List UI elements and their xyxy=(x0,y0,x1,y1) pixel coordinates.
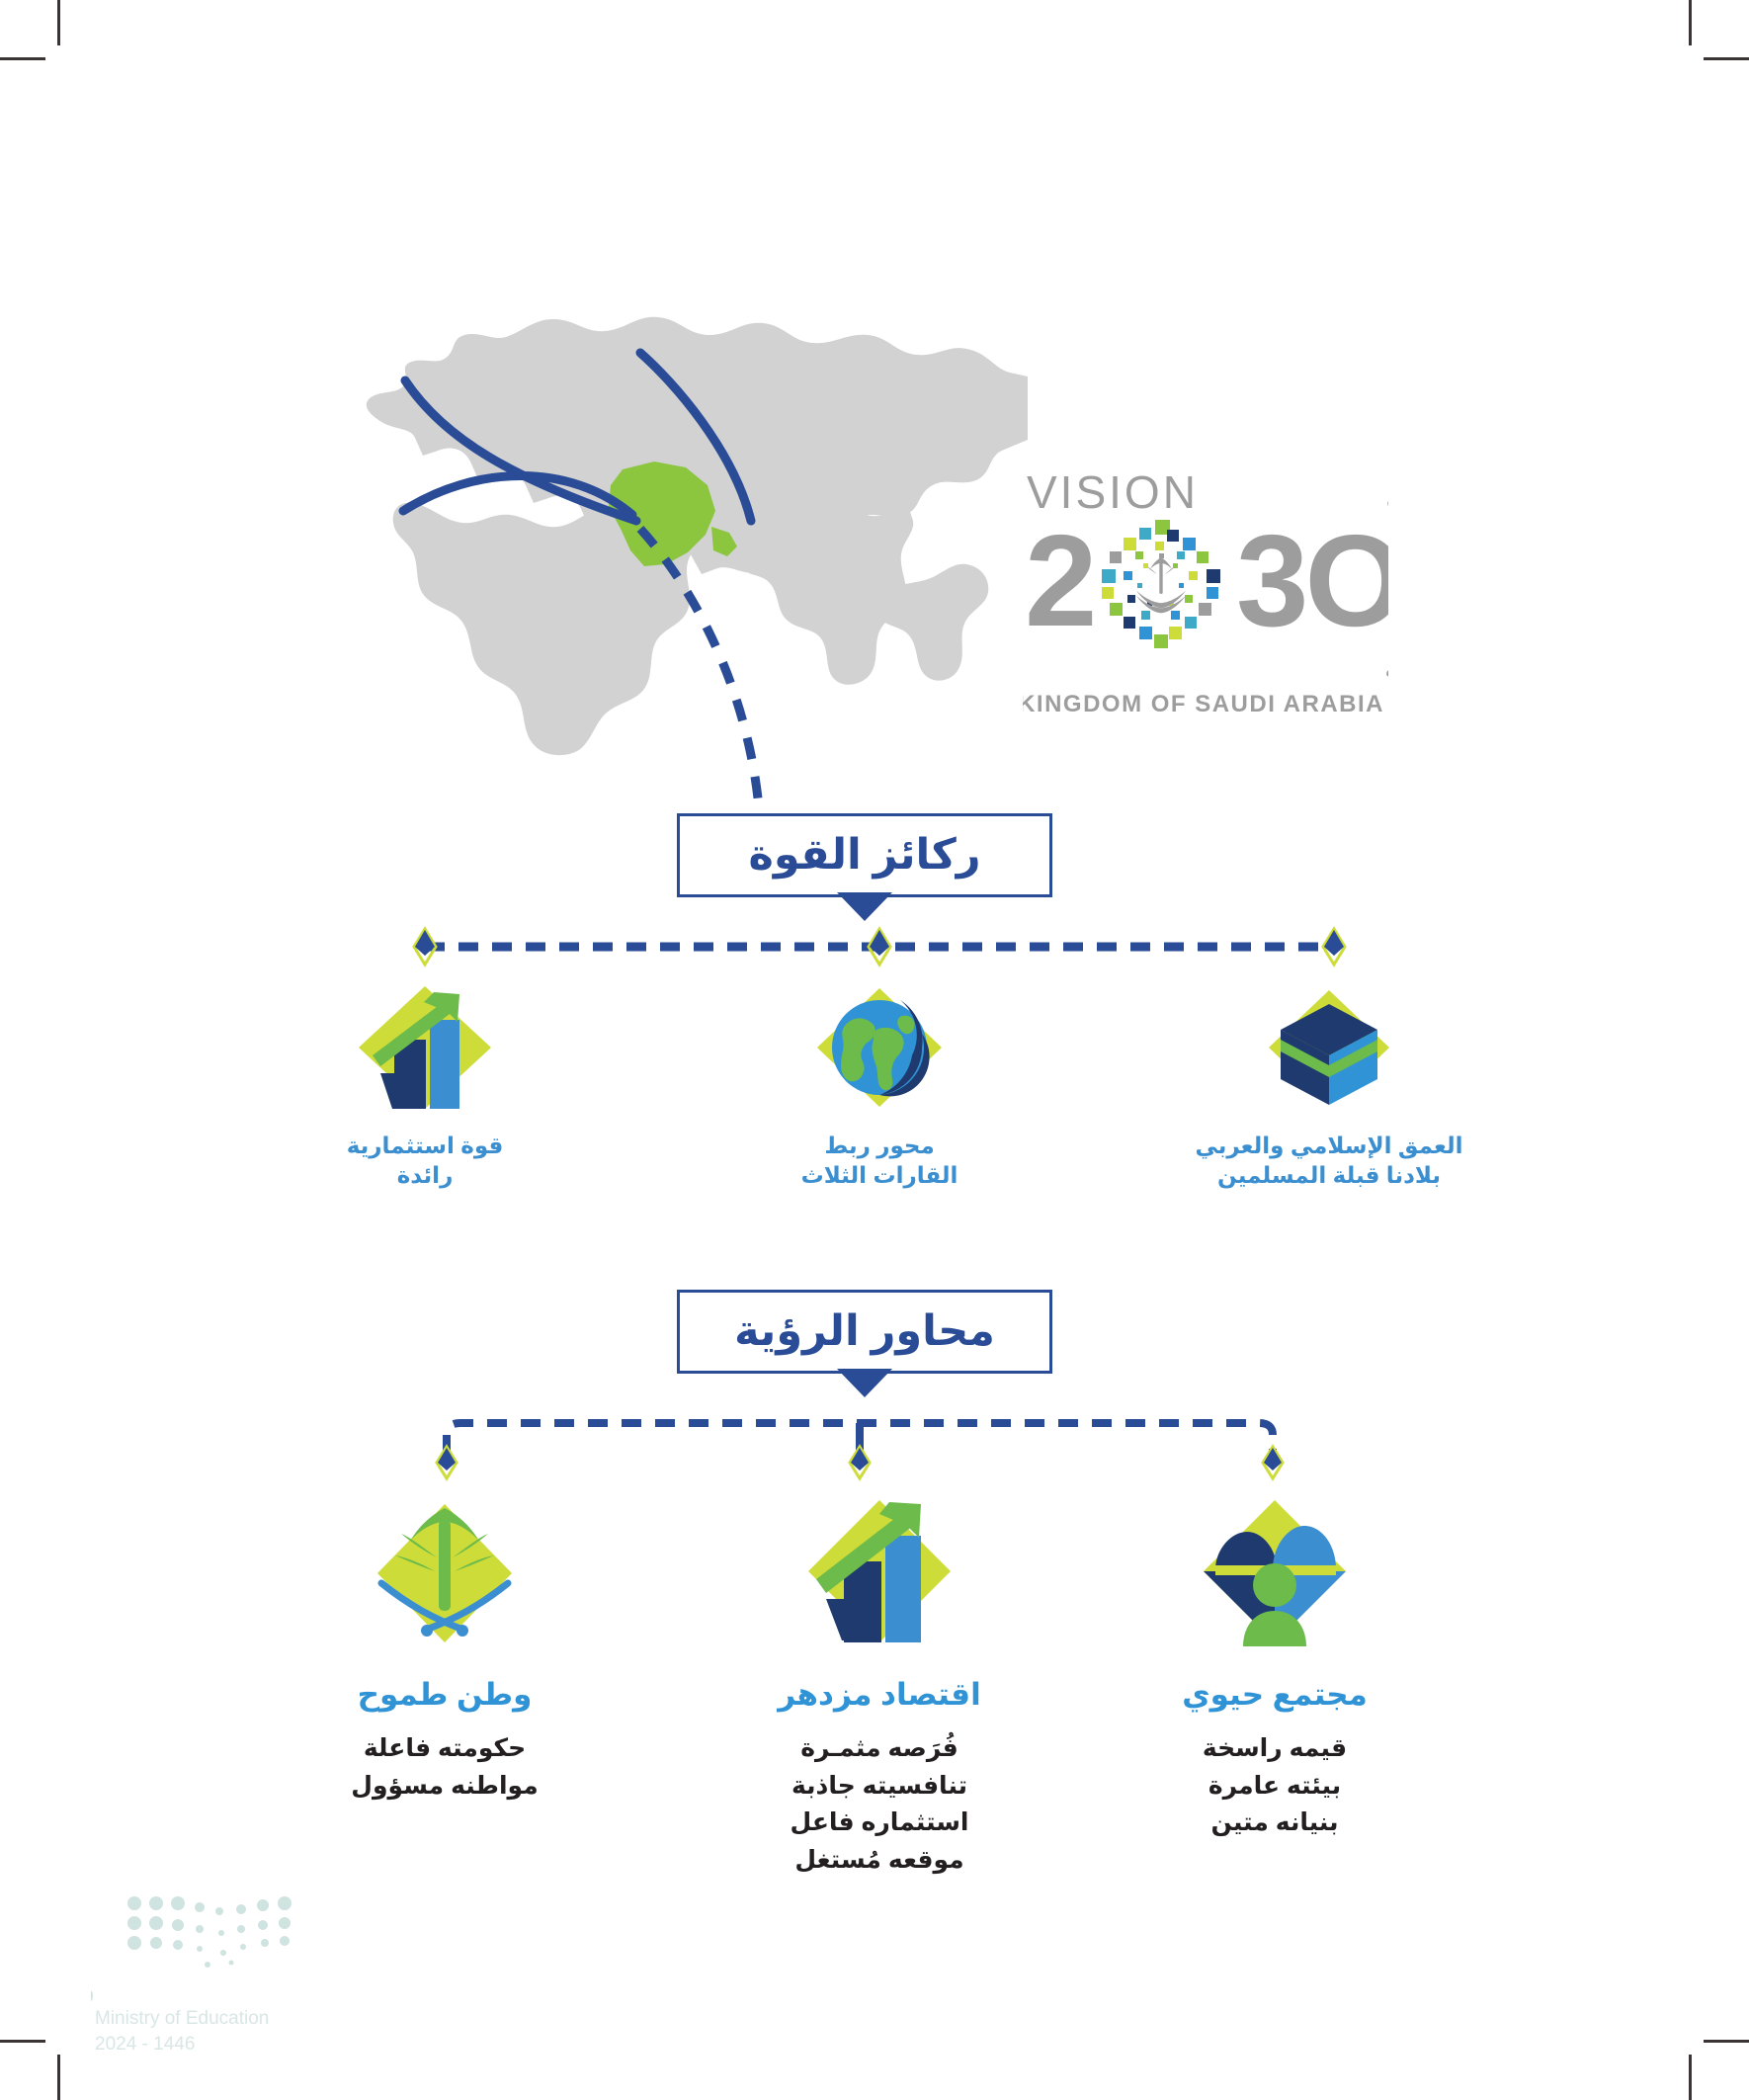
pillar-label-islamic-depth: العمق الإسلامي والعربي بلادنا قبلة المسل… xyxy=(1141,1131,1517,1191)
themes-header-box: محاور الرؤية xyxy=(677,1290,1052,1374)
logo-mosaic-rosette xyxy=(1102,520,1220,648)
ministry-of-education-logo: وزارة التـعـلـيم Ministry of Education 2… xyxy=(91,1888,328,2060)
themes-header-label: محاور الرؤية xyxy=(734,1310,995,1353)
moe-name-en: Ministry of Education xyxy=(95,2008,269,2029)
crop-mark-bottom-left-horizontal xyxy=(0,2040,45,2043)
crop-mark-top-right-horizontal xyxy=(1704,57,1749,60)
crop-mark-top-right-vertical xyxy=(1689,0,1692,45)
crop-mark-bottom-right-horizontal xyxy=(1704,2040,1749,2043)
pillar-item-islamic-depth: العمق الإسلامي والعربي بلادنا قبلة المسل… xyxy=(1141,978,1517,1191)
world-map xyxy=(296,292,1028,786)
pillars-connector xyxy=(395,927,1364,972)
logo-digit-2: 2 xyxy=(1025,508,1097,653)
themes-connector xyxy=(415,1407,1304,1482)
theme-item-vibrant-society: مجتمع حيوي قيمه راسخة بيئته عامرة بنيانه… xyxy=(1097,1482,1453,1842)
pillar-item-continents: محور ربط القارات الثلاث xyxy=(702,978,1057,1191)
page-root: VISION رؤيــــة 2 3O xyxy=(0,0,1749,2100)
crop-mark-bottom-left-vertical xyxy=(57,2055,60,2100)
theme-points-thriving-economy: فُرَصه مثمـرة تنافسيته جاذبة استثماره فا… xyxy=(702,1730,1057,1879)
moe-dots-mark xyxy=(127,1896,291,1968)
pillar-label-investment: قوة استثمارية رائدة xyxy=(247,1131,603,1191)
kaaba-icon xyxy=(1255,978,1403,1117)
theme-title-ambitious-nation: وطن طموح xyxy=(267,1676,623,1713)
vision-2030-logo: VISION رؤيــــة 2 3O xyxy=(1023,472,1388,729)
theme-title-thriving-economy: اقتصاد مزدهر xyxy=(702,1676,1057,1713)
pillars-header-arrow xyxy=(837,892,892,921)
pillar-label-continents: محور ربط القارات الثلاث xyxy=(702,1131,1057,1191)
crop-mark-top-left-vertical xyxy=(57,0,60,45)
crop-mark-bottom-right-vertical xyxy=(1689,2055,1692,2100)
pillars-header-label: ركائز القوة xyxy=(749,834,981,877)
logo-kingdom-en: KINGDOM OF SAUDI ARABIA xyxy=(1023,691,1384,717)
theme-item-thriving-economy: اقتصاد مزدهر فُرَصه مثمـرة تنافسيته جاذب… xyxy=(702,1482,1057,1879)
community-icon xyxy=(1186,1482,1364,1660)
growth-chart-icon xyxy=(791,1482,968,1660)
theme-item-ambitious-nation: وطن طموح حكومته فاعلة مواطنه مسؤول xyxy=(267,1482,623,1805)
themes-header-arrow xyxy=(837,1369,892,1397)
theme-title-vibrant-society: مجتمع حيوي xyxy=(1097,1676,1453,1713)
growth-chart-icon xyxy=(351,978,499,1117)
pillars-header-box: ركائز القوة xyxy=(677,813,1052,897)
logo-kingdom-ar: المملكة العربية السعودية xyxy=(1384,652,1388,686)
theme-points-vibrant-society: قيمه راسخة بيئته عامرة بنيانه متين xyxy=(1097,1730,1453,1842)
moe-years: 2024 - 1446 xyxy=(95,2034,195,2055)
globe-icon xyxy=(805,978,954,1117)
saudi-emblem-icon xyxy=(356,1482,534,1660)
theme-points-ambitious-nation: حكومته فاعلة مواطنه مسؤول xyxy=(267,1730,623,1805)
moe-name-ar: وزارة التـعـلـيم xyxy=(91,1974,95,2005)
crop-mark-top-left-horizontal xyxy=(0,57,45,60)
pillar-item-investment: قوة استثمارية رائدة xyxy=(247,978,603,1191)
logo-digits-30: 3O xyxy=(1236,508,1388,653)
